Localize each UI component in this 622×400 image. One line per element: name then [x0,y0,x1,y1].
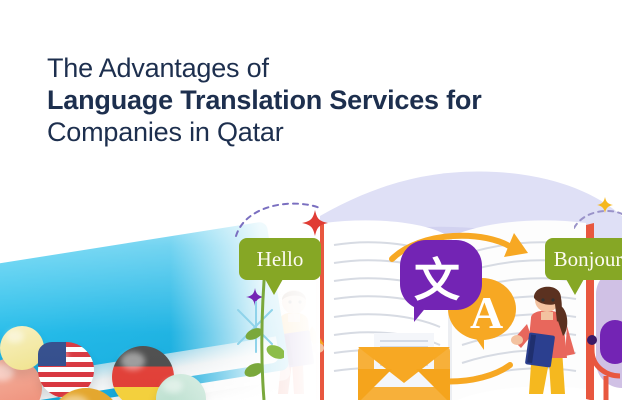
dashed-arc-left [232,198,322,238]
microphone-icon [586,320,622,400]
speech-bubble-bonjour-tail [566,279,584,295]
speech-bubble-hello-tail [265,279,283,295]
headline-line-1: The Advantages of [47,52,607,84]
person-right [505,278,583,400]
dashed-arc-right [574,206,622,230]
headline-line-3: Companies in Qatar [47,116,607,148]
headline-line-2: Language Translation Services for [47,84,607,116]
chinese-character-glyph: 文 [414,244,460,310]
page-title: The Advantages of Language Translation S… [47,52,607,148]
speech-bubble-bonjour: Bonjour [545,238,622,280]
speech-bubble-hello: Hello [239,238,321,280]
hero-banner: A 文 [0,0,622,400]
